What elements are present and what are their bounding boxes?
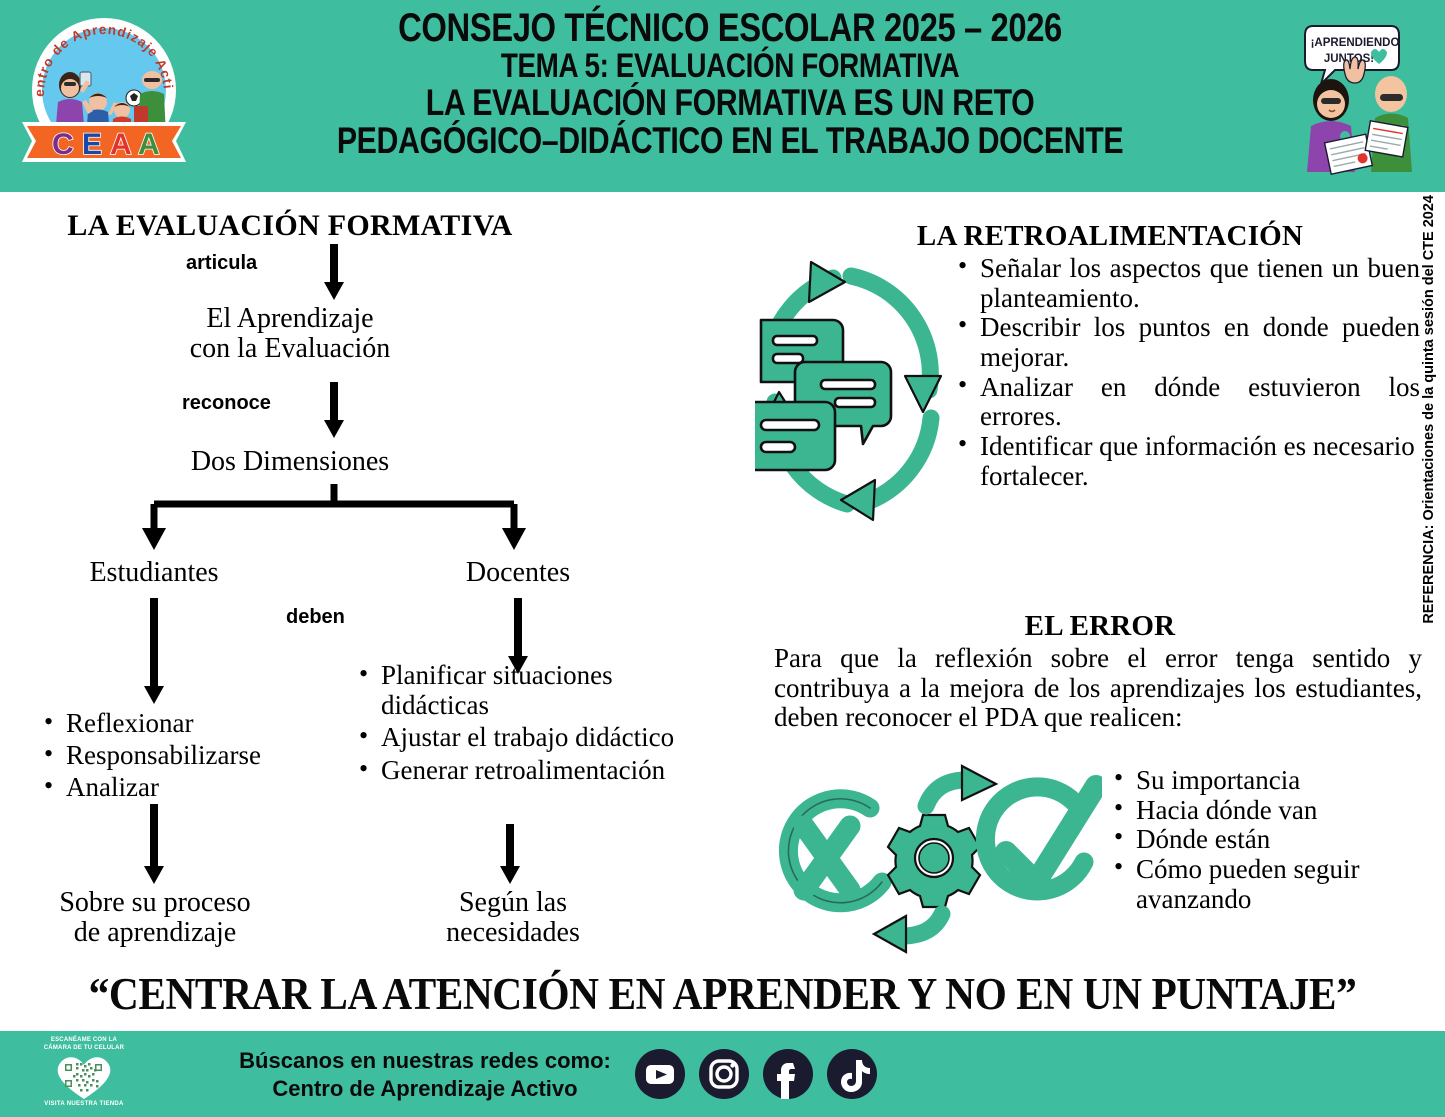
svg-text:E: E: [82, 128, 102, 161]
flow-branch-students: Estudiantes: [34, 558, 274, 588]
tiktok-icon[interactable]: [827, 1049, 877, 1099]
list-item: Su importancia: [1110, 766, 1416, 796]
youtube-icon[interactable]: [635, 1049, 685, 1099]
teachers-bullets: Planificar situaciones didácticas Ajusta…: [355, 660, 685, 787]
heart-qr-icon: [49, 1053, 119, 1101]
flow-node-3: Dos Dimensiones: [110, 447, 470, 477]
footer-text-line1: Búscanos en nuestras redes como:: [215, 1047, 635, 1075]
list-item: Responsabilizarse: [66, 740, 340, 770]
list-item: Planificar situaciones didácticas: [381, 660, 685, 720]
arrow-students-result: [142, 804, 166, 886]
error-title: EL ERROR: [820, 610, 1380, 643]
list-item: Dónde están: [1110, 825, 1416, 855]
students-result-line2: de aprendizaje: [10, 918, 300, 948]
instagram-icon[interactable]: [699, 1049, 749, 1099]
qr-caption-line1: ESCANÉAME CON LA: [28, 1037, 140, 1045]
qr-bottom-text: VISITA NUESTRA TIENDA: [28, 1101, 140, 1107]
ceaa-logo: Centro de Aprendizaje Activo: [18, 10, 190, 182]
list-item: Analizar en dónde estuvieron los errores…: [954, 373, 1420, 432]
logo-graphic: Centro de Aprendizaje Activo: [18, 10, 190, 182]
svg-text:A: A: [138, 128, 160, 161]
arrow-node2-to-node3: [322, 382, 346, 440]
facebook-icon[interactable]: [763, 1049, 813, 1099]
teachers-result: Según las necesidades: [388, 888, 638, 948]
students-bullets: Reflexionar Responsabilizarse Analizar: [40, 708, 340, 805]
list-item: Señalar los aspectos que tienen un buen …: [954, 254, 1420, 313]
title-line-2: TEMA 5: EVALUACIÓN FORMATIVA: [336, 49, 1123, 84]
qr-code-block[interactable]: ESCANÉAME CON LA CÁMARA DE TU CELULAR: [28, 1037, 140, 1113]
label-deben: deben: [286, 606, 345, 629]
list-item: Describir los puntos en donde pueden mej…: [954, 313, 1420, 372]
flow-root: LA EVALUACIÓN FORMATIVA: [0, 210, 580, 242]
feedback-title: LA RETROALIMENTACIÓN: [820, 220, 1400, 253]
arrow-students-down: [142, 598, 166, 706]
list-item: Analizar: [66, 772, 340, 802]
title-line-4: PEDAGÓGICO–DIDÁCTICO EN EL TRABAJO DOCEN…: [336, 122, 1123, 160]
list-item: Ajustar el trabajo didáctico: [381, 722, 685, 752]
students-result: Sobre su proceso de aprendizaje: [10, 888, 300, 948]
error-paragraph: Para que la reflexión sobre el error ten…: [774, 644, 1422, 733]
teachers-illustration: ¡APRENDIENDO JUNTOS!: [1283, 12, 1433, 182]
title-line-3: LA EVALUACIÓN FORMATIVA ES UN RETO: [336, 84, 1123, 122]
bubble-text-line1: ¡APRENDIENDO: [1311, 37, 1400, 49]
right-column: LA RETROALIMENTACIÓN: [760, 192, 1420, 962]
closing-quote: “CENTRAR LA ATENCIÓN EN APRENDER Y NO EN…: [58, 968, 1387, 1020]
arrow-teachers-result: [498, 824, 522, 886]
svg-text:C: C: [52, 128, 74, 161]
list-item: Cómo pueden seguir avanzando: [1110, 855, 1416, 914]
footer-text-line2: Centro de Aprendizaje Activo: [215, 1075, 635, 1103]
social-links: [635, 1049, 877, 1099]
svg-text:A: A: [110, 128, 132, 161]
feedback-cycle-icon: [755, 252, 985, 542]
flow-node-2: El Aprendizaje con la Evaluación: [110, 304, 470, 364]
infographic-page: Centro de Aprendizaje Activo: [0, 0, 1445, 1117]
footer-text: Búscanos en nuestras redes como: Centro …: [215, 1047, 635, 1102]
list-item: Identificar que información es necesario…: [954, 432, 1420, 491]
header-banner: Centro de Aprendizaje Activo: [0, 0, 1445, 192]
teachers-result-line1: Según las: [388, 888, 638, 918]
students-result-line1: Sobre su proceso: [10, 888, 300, 918]
list-item: Generar retroalimentación: [381, 755, 685, 785]
flow-node-2-line1: El Aprendizaje: [110, 304, 470, 334]
arrow-root-to-node2: [322, 244, 346, 302]
label-articula: articula: [186, 252, 257, 275]
list-item: Hacia dónde van: [1110, 796, 1416, 826]
error-gear-check-icon: [766, 764, 1102, 954]
error-bullets: Su importancia Hacia dónde van Dónde est…: [1110, 766, 1416, 914]
list-item: Reflexionar: [66, 708, 340, 738]
footer-bar: ESCANÉAME CON LA CÁMARA DE TU CELULAR: [0, 1031, 1445, 1117]
arrow-split-branches: [130, 484, 550, 552]
title-line-1: CONSEJO TÉCNICO ESCOLAR 2025 – 2026: [336, 8, 1123, 49]
flow-node-2-line2: con la Evaluación: [110, 334, 470, 364]
qr-caption-line2: CÁMARA DE TU CELULAR: [28, 1045, 140, 1053]
flow-branch-teachers: Docentes: [398, 558, 638, 588]
teachers-result-line2: necesidades: [388, 918, 638, 948]
label-reconoce: reconoce: [182, 392, 271, 415]
flowchart: LA EVALUACIÓN FORMATIVA articula El Apre…: [0, 192, 740, 962]
feedback-bullets: Señalar los aspectos que tienen un buen …: [954, 254, 1420, 492]
header-title: CONSEJO TÉCNICO ESCOLAR 2025 – 2026 TEMA…: [336, 8, 1123, 160]
teachers-graphic: ¡APRENDIENDO JUNTOS!: [1283, 12, 1433, 182]
reference-text: REFERENCIA: Orientaciones de la quinta s…: [1421, 195, 1437, 624]
